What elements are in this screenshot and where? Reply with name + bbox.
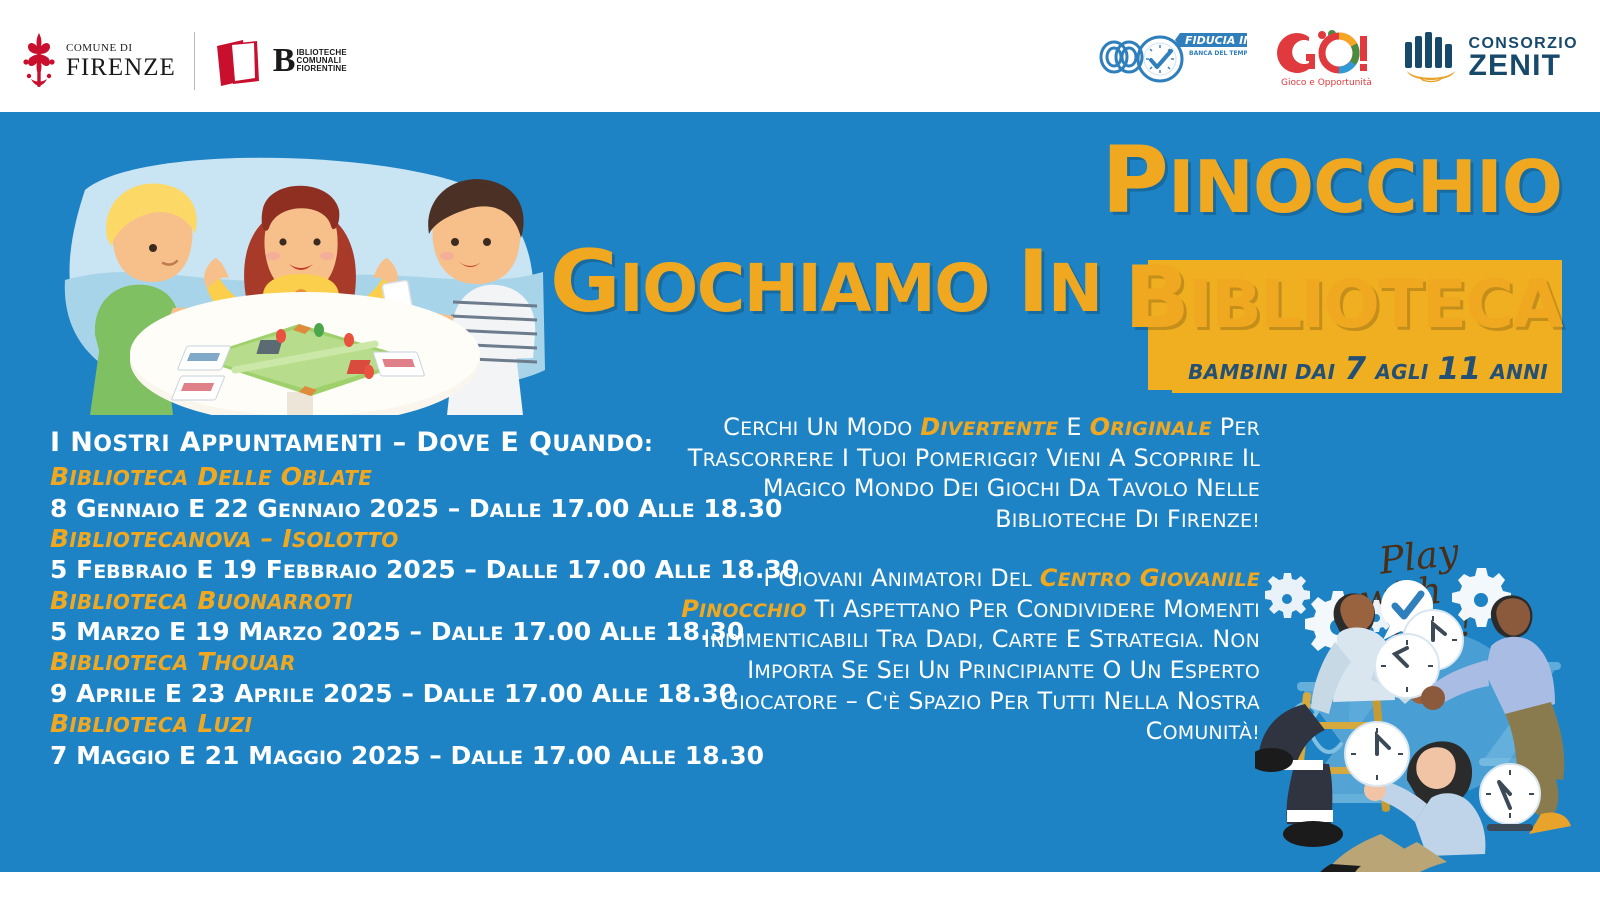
- logo-comune-firenze: COMUNE DI FIRENZE B IBLIOTECHE COMUNALI: [18, 30, 347, 92]
- schedule-venue: BIBLIOTECANOVA – ISOLOTTO: [50, 524, 650, 555]
- fiducia-subtitle-text: BANCA DEL TEMPO: [1189, 50, 1247, 57]
- para1-part-a: CERCHI UN MODO: [723, 413, 920, 441]
- title-biblioteca: BIBLIOTECA: [1124, 258, 1562, 340]
- age-range-bar: BAMBINI DAI 7 AGLI 11 ANNI: [1172, 346, 1562, 393]
- title-block: PINOCCHIO GIOCHIAMO IN BIBLIOTECA BAMBIN…: [540, 130, 1580, 400]
- para1-part-b: E: [1059, 413, 1090, 441]
- para1-highlight-originale: ORIGINALE: [1090, 413, 1212, 441]
- title-giochiamo-text: GIOCHIAMO IN: [550, 232, 1102, 332]
- time-management-illustration: [1255, 542, 1600, 872]
- partner-logos: FIDUCIA IN TE BANCA DEL TEMPO: [1097, 24, 1579, 92]
- title-biblioteca-text: BIBLIOTECA: [1124, 248, 1562, 348]
- title-pinocchio-text: PINOCCHIO: [1101, 127, 1562, 234]
- schedule-venue: BIBLIOTECA LUZI: [50, 709, 650, 740]
- description-paragraph-1: CERCHI UN MODO DIVERTENTE E ORIGINALE PE…: [660, 412, 1260, 535]
- comune-firenze-wordmark: COMUNE DI FIRENZE: [66, 43, 176, 80]
- schedule-entry: BIBLIOTECA THOUAR 9 APRILE E 23 APRILE 2…: [50, 647, 650, 709]
- age-prefix: BAMBINI DAI: [1188, 360, 1335, 384]
- footer-strip: [0, 872, 1600, 900]
- age-from: 7: [1344, 351, 1366, 387]
- bcf-wordmark: IBLIOTECHE COMUNALI FIORENTINE: [296, 49, 346, 73]
- poster-body: PINOCCHIO GIOCHIAMO IN BIBLIOTECA BAMBIN…: [0, 112, 1600, 872]
- schedule-dates: 7 MAGGIO E 21 MAGGIO 2025 – DALLE 17.00 …: [50, 740, 650, 771]
- logo-consorzio-zenit: CONSORZIO ZENIT: [1402, 28, 1579, 89]
- go-subtitle-text: Gioco e Opportunità: [1281, 78, 1372, 88]
- gear-icon: [1265, 573, 1310, 618]
- comune-line-1: COMUNE DI: [66, 43, 176, 54]
- zenit-line-2: ZENIT: [1469, 52, 1579, 80]
- bcf-line-3: FIORENTINE: [296, 65, 346, 73]
- header-divider: [194, 32, 195, 90]
- schedule-dates: 5 FEBBRAIO E 19 FEBBRAIO 2025 – DALLE 17…: [50, 554, 650, 585]
- schedule-dates: 9 APRILE E 23 APRILE 2025 – DALLE 17.00 …: [50, 678, 650, 709]
- description-paragraph-2: I GIOVANI ANIMATORI DEL CENTRO GIOVANILE…: [660, 563, 1260, 747]
- poster-root: COMUNE DI FIRENZE B IBLIOTECHE COMUNALI: [0, 0, 1600, 900]
- logo-fiducia-in-te: FIDUCIA IN TE BANCA DEL TEMPO: [1097, 27, 1247, 89]
- age-suffix: ANNI: [1490, 360, 1548, 384]
- book-pages-icon: [213, 32, 271, 90]
- schedule-entry: BIBLIOTECA DELLE OBLATE 8 GENNAIO E 22 G…: [50, 462, 650, 524]
- clock-icon: [1345, 722, 1409, 786]
- schedule-heading: I NOSTRI APPUNTAMENTI – DOVE E QUANDO:: [50, 427, 650, 458]
- paragraph-spacer: [660, 535, 1260, 563]
- schedule-entry: BIBLIOTECA BUONARROTI 5 MARZO E 19 MARZO…: [50, 586, 650, 648]
- kids-playing-boardgame-illustration: [55, 130, 550, 415]
- para1-highlight-divertente: DIVERTENTE: [920, 413, 1058, 441]
- zenit-wordmark: CONSORZIO ZENIT: [1469, 37, 1579, 79]
- schedule-entry: BIBLIOTECA LUZI 7 MAGGIO E 21 MAGGIO 202…: [50, 709, 650, 771]
- age-to: 11: [1438, 351, 1482, 387]
- schedule-venue: BIBLIOTECA DELLE OBLATE: [50, 462, 650, 493]
- schedule-dates: 5 MARZO E 19 MARZO 2025 – DALLE 17.00 AL…: [50, 616, 650, 647]
- age-middle: AGLI: [1375, 360, 1428, 384]
- logo-go-gioco-opportunita: Gioco e Opportunità: [1277, 25, 1372, 91]
- para2-part-a: I GIOVANI ANIMATORI DEL: [763, 564, 1040, 592]
- logo-biblioteche-comunali-fiorentine: B IBLIOTECHE COMUNALI FIORENTINE: [213, 32, 347, 90]
- schedule-venue: BIBLIOTECA BUONARROTI: [50, 586, 650, 617]
- schedule-column: I NOSTRI APPUNTAMENTI – DOVE E QUANDO: B…: [50, 427, 650, 771]
- fiducia-title-text: FIDUCIA IN TE: [1185, 34, 1247, 47]
- table-clock-icon: [1480, 764, 1540, 831]
- zenit-mark-icon: [1402, 28, 1460, 89]
- schedule-venue: BIBLIOTECA THOUAR: [50, 647, 650, 678]
- comune-line-2: FIRENZE: [66, 55, 176, 80]
- bcf-letter-b: B: [273, 47, 296, 74]
- schedule-dates: 8 GENNAIO E 22 GENNAIO 2025 – DALLE 17.0…: [50, 493, 650, 524]
- giglio-fleur-de-lis-icon: [18, 31, 60, 91]
- title-pinocchio: PINOCCHIO: [1101, 140, 1562, 223]
- schedule-entry: BIBLIOTECANOVA – ISOLOTTO 5 FEBBRAIO E 1…: [50, 524, 650, 586]
- header-bar: COMUNE DI FIRENZE B IBLIOTECHE COMUNALI: [0, 0, 1600, 112]
- description-column: CERCHI UN MODO DIVERTENTE E ORIGINALE PE…: [660, 412, 1260, 747]
- title-giochiamo-in: GIOCHIAMO IN: [550, 242, 1102, 324]
